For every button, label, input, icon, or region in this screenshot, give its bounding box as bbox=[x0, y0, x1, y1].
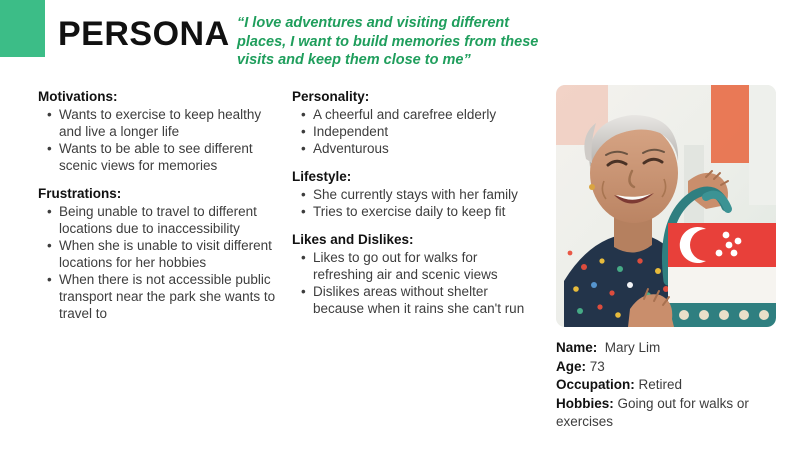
persona-quote: “I love adventures and visiting differen… bbox=[237, 14, 549, 70]
section-motivations: Motivations: Wants to exercise to keep h… bbox=[38, 88, 278, 174]
section-heading: Personality: bbox=[292, 88, 527, 105]
section-heading: Likes and Dislikes: bbox=[292, 231, 527, 248]
profile-details: Name: Mary Lim Age: 73 Occupation: Retir… bbox=[556, 339, 788, 432]
section-frustrations: Frustrations: Being unable to travel to … bbox=[38, 185, 278, 322]
persona-photo bbox=[556, 85, 776, 327]
list-item: She currently stays with her family bbox=[313, 186, 527, 203]
persona-photo-illustration bbox=[556, 85, 776, 327]
detail-label: Age: bbox=[556, 359, 586, 374]
detail-name: Name: Mary Lim bbox=[556, 339, 788, 358]
detail-label: Name: bbox=[556, 340, 597, 355]
list-item: Likes to go out for walks for refreshing… bbox=[313, 249, 527, 283]
list-item: When there is not accessible public tran… bbox=[59, 271, 278, 322]
list-item: Wants to exercise to keep healthy and li… bbox=[59, 106, 278, 140]
section-heading: Lifestyle: bbox=[292, 168, 527, 185]
detail-label: Occupation: bbox=[556, 377, 635, 392]
page-title: PERSONA bbox=[58, 14, 230, 54]
middle-column: Personality: A cheerful and carefree eld… bbox=[292, 88, 527, 317]
left-column: Motivations: Wants to exercise to keep h… bbox=[38, 88, 278, 322]
bullet-list: Wants to exercise to keep healthy and li… bbox=[38, 106, 278, 174]
list-item: Adventurous bbox=[313, 140, 527, 157]
accent-block bbox=[0, 0, 45, 57]
section-heading: Frustrations: bbox=[38, 185, 278, 202]
list-item: Tries to exercise daily to keep fit bbox=[313, 203, 527, 220]
bullet-list: A cheerful and carefree elderly Independ… bbox=[292, 106, 527, 157]
list-item: Dislikes areas without shelter because w… bbox=[313, 283, 527, 317]
detail-value: Mary Lim bbox=[597, 340, 660, 355]
list-item: When she is unable to visit different lo… bbox=[59, 237, 278, 271]
section-heading: Motivations: bbox=[38, 88, 278, 105]
detail-value: 73 bbox=[586, 359, 605, 374]
list-item: A cheerful and carefree elderly bbox=[313, 106, 527, 123]
detail-hobbies: Hobbies: Going out for walks or exercise… bbox=[556, 395, 788, 432]
bullet-list: She currently stays with her family Trie… bbox=[292, 186, 527, 220]
detail-age: Age: 73 bbox=[556, 358, 788, 377]
section-personality: Personality: A cheerful and carefree eld… bbox=[292, 88, 527, 157]
list-item: Wants to be able to see different scenic… bbox=[59, 140, 278, 174]
detail-label: Hobbies: bbox=[556, 396, 614, 411]
detail-occupation: Occupation: Retired bbox=[556, 376, 788, 395]
list-item: Independent bbox=[313, 123, 527, 140]
detail-value: Retired bbox=[635, 377, 682, 392]
persona-slide: PERSONA “I love adventures and visiting … bbox=[0, 0, 800, 450]
section-likes-and-dislikes: Likes and Dislikes: Likes to go out for … bbox=[292, 231, 527, 317]
bullet-list: Likes to go out for walks for refreshing… bbox=[292, 249, 527, 317]
list-item: Being unable to travel to different loca… bbox=[59, 203, 278, 237]
bullet-list: Being unable to travel to different loca… bbox=[38, 203, 278, 322]
section-lifestyle: Lifestyle: She currently stays with her … bbox=[292, 168, 527, 220]
